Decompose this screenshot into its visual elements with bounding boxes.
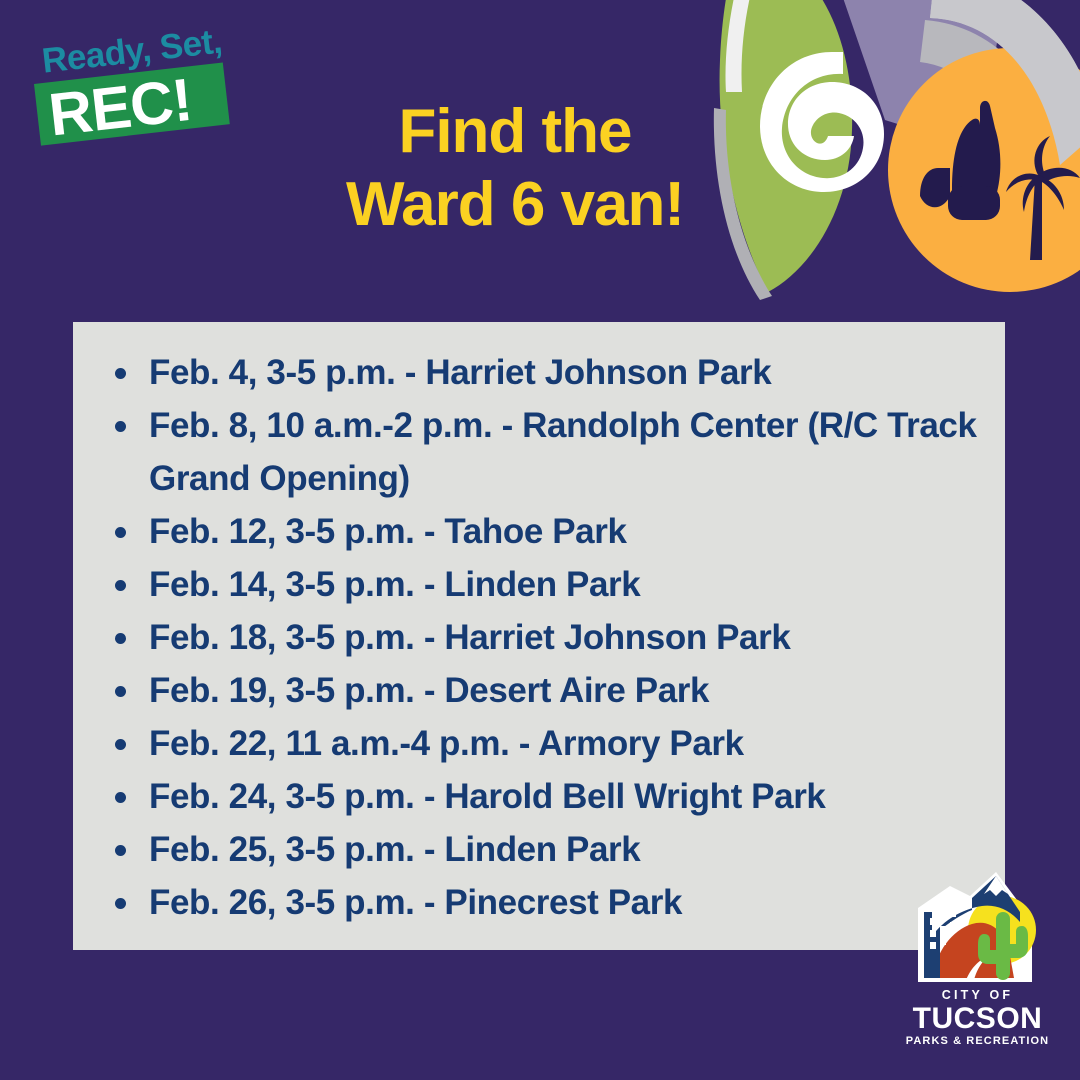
list-item: Feb. 12, 3-5 p.m. - Tahoe Park xyxy=(103,505,979,558)
list-item: Feb. 22, 11 a.m.-4 p.m. - Armory Park xyxy=(103,717,979,770)
ward6-numeral-six xyxy=(760,52,884,192)
list-item: Feb. 14, 3-5 p.m. - Linden Park xyxy=(103,558,979,611)
page-title: Find the Ward 6 van! xyxy=(300,95,730,241)
badge-word: REC! xyxy=(46,70,195,146)
schedule-panel: Feb. 4, 3-5 p.m. - Harriet Johnson Park … xyxy=(73,322,1005,950)
tucson-wordmark: CITY OF TUCSON PARKS & RECREATION xyxy=(905,988,1050,1048)
logo-tucson-text: TUCSON xyxy=(905,1003,1050,1034)
list-item: Feb. 18, 3-5 p.m. - Harriet Johnson Park xyxy=(103,611,979,664)
ward6-gray-swoosh-inner xyxy=(920,20,1065,200)
ready-set-rec-badge: Ready, Set, REC! xyxy=(34,42,264,172)
ward6-lavender-swoosh xyxy=(830,0,1010,150)
ward6-gray-swoosh-outer xyxy=(930,0,1080,165)
ward6-logo-art xyxy=(680,0,1080,320)
list-item: Feb. 4, 3-5 p.m. - Harriet Johnson Park xyxy=(103,346,979,399)
ward6-palm-silhouette xyxy=(1006,136,1080,260)
ward6-sun-circle xyxy=(888,48,1080,292)
headline-line-1: Find the xyxy=(300,95,730,168)
logo-parks-text: PARKS & RECREATION xyxy=(905,1034,1050,1048)
logo-city-of-text: CITY OF xyxy=(905,988,1050,1003)
tucson-logo-mark xyxy=(910,868,1045,986)
ward6-leaf-shape xyxy=(720,0,853,292)
headline-line-2: Ward 6 van! xyxy=(300,168,730,241)
list-item: Feb. 19, 3-5 p.m. - Desert Aire Park xyxy=(103,664,979,717)
ward6-leaf-highlight xyxy=(726,0,755,92)
list-item: Feb. 26, 3-5 p.m. - Pinecrest Park xyxy=(103,876,979,929)
ward6-saguaro-silhouette xyxy=(920,101,1000,220)
schedule-list: Feb. 4, 3-5 p.m. - Harriet Johnson Park … xyxy=(73,322,1005,929)
list-item: Feb. 24, 3-5 p.m. - Harold Bell Wright P… xyxy=(103,770,979,823)
list-item: Feb. 25, 3-5 p.m. - Linden Park xyxy=(103,823,979,876)
poster-canvas: Ready, Set, REC! Find the Ward 6 van! Fe… xyxy=(0,0,1080,1080)
city-of-tucson-logo: CITY OF TUCSON PARKS & RECREATION xyxy=(905,868,1050,1048)
list-item: Feb. 8, 10 a.m.-2 p.m. - Randolph Center… xyxy=(103,399,979,505)
